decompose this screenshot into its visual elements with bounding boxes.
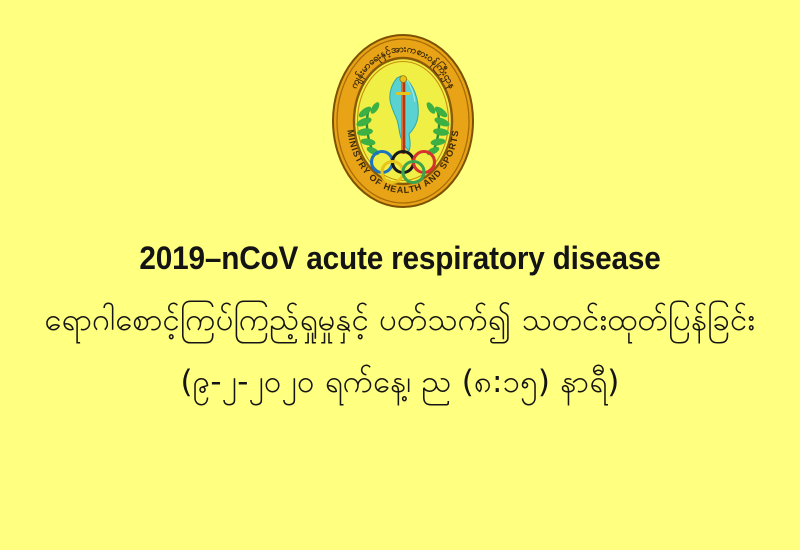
ministry-emblem: ကျန်းမာရေးနှင့်အားကစားဝန်ကြီးဌာန MINISTR… — [331, 34, 475, 208]
headline-burmese: ရောဂါစောင့်ကြပ်ကြည့်ရှုမှုနှင့် ပတ်သက်၍ … — [0, 294, 800, 346]
ministry-emblem-graphic: ကျန်းမာရေးနှင့်အားကစားဝန်ကြီးဌာန MINISTR… — [331, 34, 475, 208]
announcement-text-block: 2019–nCoV acute respiratory disease ရောဂ… — [0, 236, 800, 408]
headline-english: 2019–nCoV acute respiratory disease — [28, 236, 772, 280]
datetime-burmese: (၉-၂-၂၀၂၀ ရက်နေ့၊ ည (၈:၁၅) နာရီ) — [0, 356, 800, 408]
announcement-slide: ကျန်းမာရေးနှင့်အားကစားဝန်ကြီးဌာန MINISTR… — [0, 0, 800, 550]
